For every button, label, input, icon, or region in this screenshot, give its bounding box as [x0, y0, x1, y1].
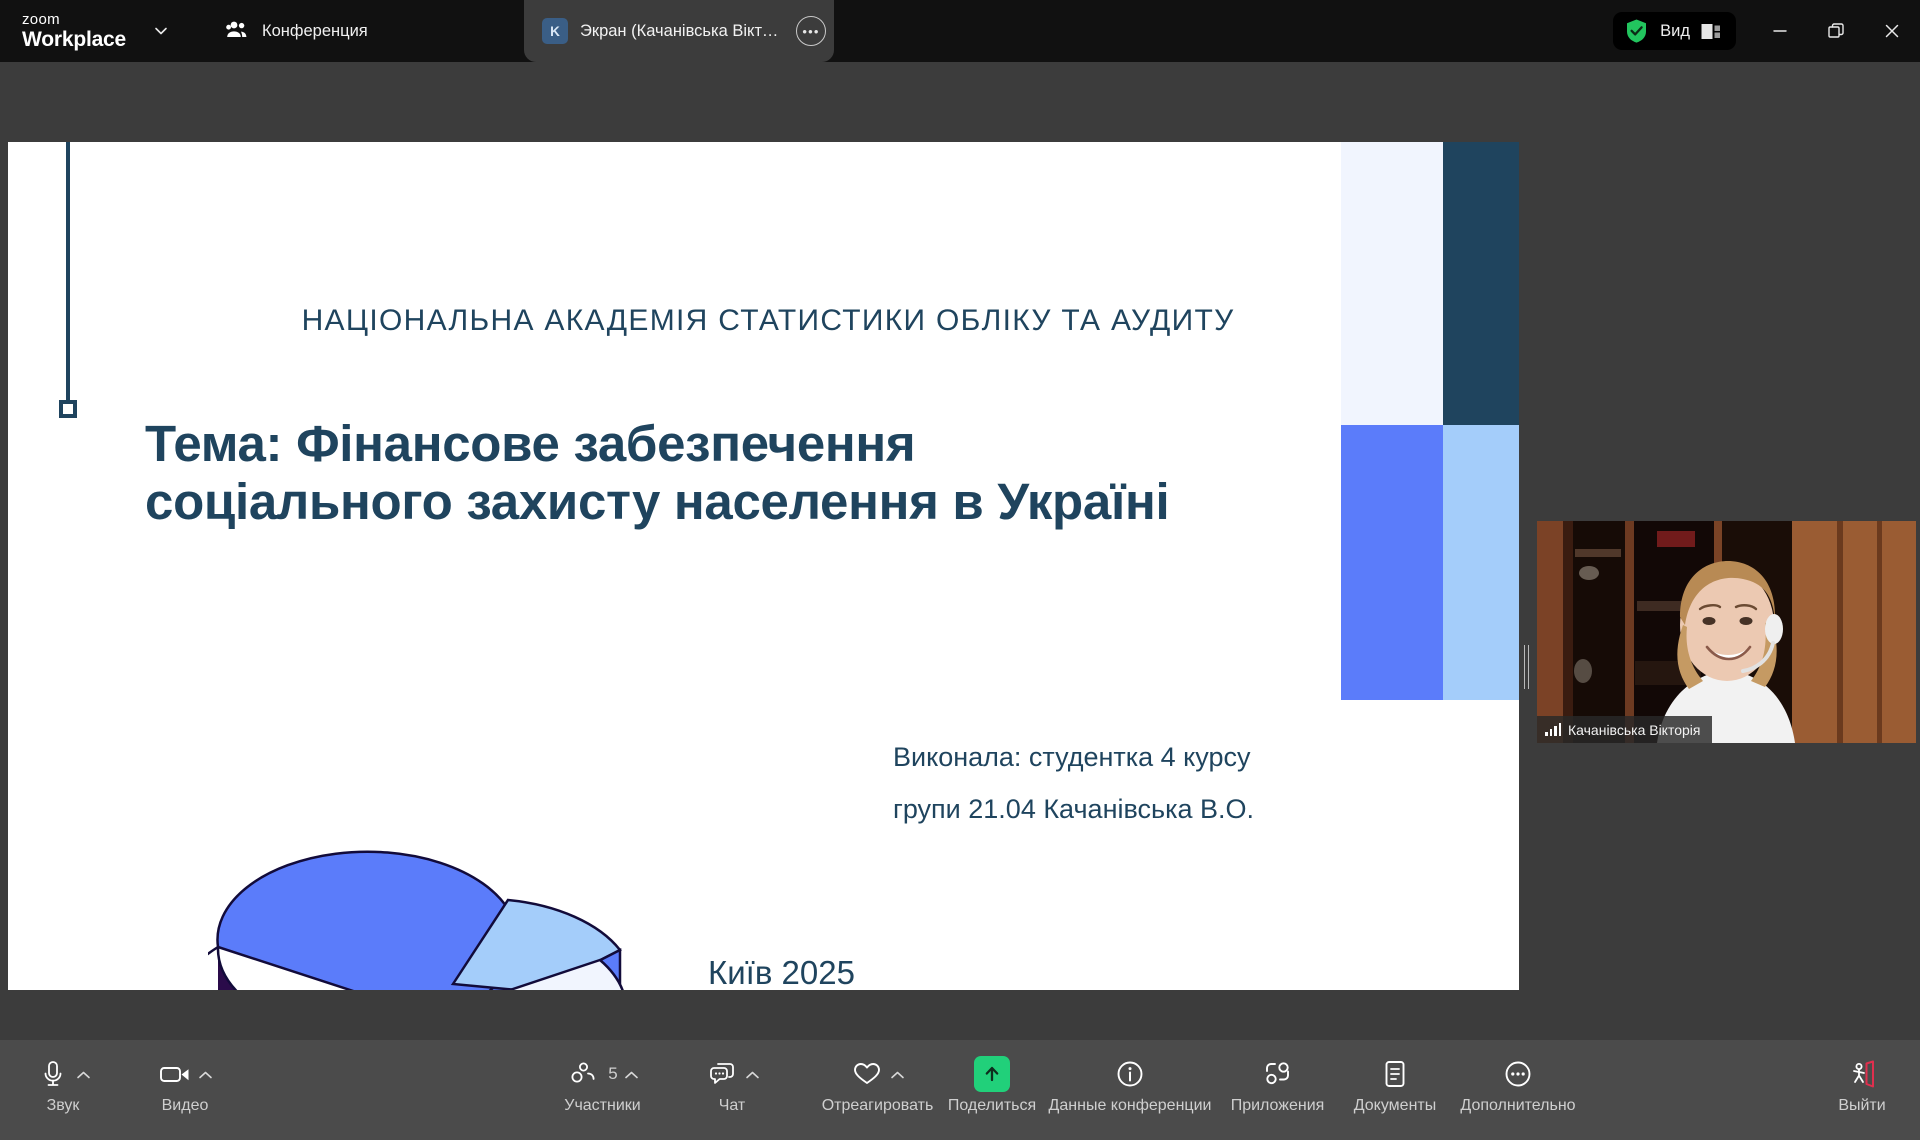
logo-zoom-text: zoom [22, 12, 60, 28]
participants-count-badge: 5 [608, 1064, 617, 1084]
toolbar-item-video[interactable]: Видео [145, 1052, 225, 1130]
toolbar-label-share: Поделиться [948, 1096, 1036, 1116]
people-group-icon [224, 18, 250, 44]
meeting-tab-label: Конференция [262, 22, 368, 41]
heart-icon [850, 1057, 884, 1091]
restore-window-icon[interactable] [1808, 0, 1864, 62]
audio-options-caret-icon[interactable] [76, 1068, 91, 1080]
zoom-app-window: zoom Workplace Конференция K Экран (Кача… [0, 0, 1920, 1140]
info-circle-icon [1113, 1057, 1147, 1091]
toolbar-label-reactions: Отреагировать [822, 1096, 934, 1116]
toolbar-label-participants: Участники [564, 1096, 640, 1116]
decor-vertical-line [66, 142, 70, 407]
chat-bubble-icon [705, 1057, 739, 1091]
video-camera-icon [158, 1057, 192, 1091]
decor-block-dark-navy [1443, 142, 1519, 425]
slide-author-line-1: Виконала: студентка 4 курсу [893, 731, 1343, 783]
zoom-workplace-logo: zoom Workplace [0, 12, 120, 51]
video-options-caret-icon[interactable] [198, 1068, 213, 1080]
shared-screen-slide[interactable]: НАЦІОНАЛЬНА АКАДЕМІЯ СТАТИСТИКИ ОБЛІКУ Т… [8, 142, 1519, 990]
participant-name-chip: Качанівська Вікторія [1537, 716, 1712, 743]
document-icon [1378, 1057, 1412, 1091]
ellipsis-circle-icon[interactable]: ••• [796, 16, 826, 46]
video-feed [1537, 521, 1916, 743]
slide-author-block: Виконала: студентка 4 курсу групи 21.04 … [893, 731, 1343, 835]
leave-meeting-icon [1845, 1057, 1879, 1091]
meeting-tab-button[interactable]: Конференция [214, 11, 378, 51]
minimize-icon[interactable] [1752, 0, 1808, 62]
meeting-stage: НАЦІОНАЛЬНА АКАДЕМІЯ СТАТИСТИКИ ОБЛІКУ Т… [0, 62, 1920, 1040]
3d-exploded-pie-chart [208, 832, 648, 990]
chevron-down-icon[interactable] [144, 14, 178, 48]
microphone-icon [36, 1057, 70, 1091]
tab-screen-share[interactable]: K Экран (Качанівська Вікторія) ••• [524, 0, 834, 62]
layout-panel-icon [1701, 23, 1721, 40]
reactions-options-caret-icon[interactable] [890, 1068, 905, 1080]
decor-block-royal-blue [1341, 425, 1443, 700]
decor-block-light-blue [1443, 425, 1519, 700]
meeting-toolbar: Звук Видео [0, 1040, 1920, 1140]
decor-block-light-lavender [1341, 142, 1443, 425]
title-bar: zoom Workplace Конференция K Экран (Кача… [0, 0, 1920, 62]
audio-bars-icon [1545, 723, 1561, 736]
logo-workplace-text: Workplace [22, 28, 126, 51]
toolbar-item-participants[interactable]: 5 Участники [540, 1052, 665, 1130]
toolbar-item-meeting-info[interactable]: Данные конференции [1030, 1052, 1230, 1130]
participant-video-tile[interactable]: Качанівська Вікторія [1537, 521, 1916, 743]
toolbar-label-video: Видео [162, 1096, 209, 1116]
share-screen-icon [974, 1056, 1010, 1092]
toolbar-item-chat[interactable]: Чат [692, 1052, 772, 1130]
toolbar-item-more[interactable]: Дополнительно [1418, 1052, 1618, 1130]
toolbar-label-more: Дополнительно [1460, 1096, 1575, 1116]
toolbar-item-leave[interactable]: Выйти [1826, 1052, 1898, 1130]
slide-university-name: НАЦІОНАЛЬНА АКАДЕМІЯ СТАТИСТИКИ ОБЛІКУ Т… [238, 304, 1298, 338]
participant-name: Качанівська Вікторія [1568, 722, 1701, 738]
toolbar-label-audio: Звук [47, 1096, 80, 1116]
toolbar-label-meeting-info: Данные конференции [1049, 1096, 1212, 1116]
participants-icon [566, 1057, 600, 1091]
green-shield-check-icon [1624, 18, 1649, 44]
toolbar-item-audio[interactable]: Звук [28, 1052, 98, 1130]
more-ellipsis-icon [1501, 1057, 1535, 1091]
participants-options-caret-icon[interactable] [624, 1068, 639, 1080]
apps-icon [1261, 1057, 1295, 1091]
toolbar-label-chat: Чат [719, 1096, 746, 1116]
slide-topic-title: Тема: Фінансове забезпечення соціального… [145, 415, 1195, 531]
tab-title: Экран (Качанівська Вікторія) [580, 22, 784, 41]
slide-author-line-2: групи 21.04 Качанівська В.О. [893, 783, 1343, 835]
close-x-icon[interactable] [1864, 0, 1920, 62]
decor-square-top [59, 400, 77, 418]
window-controls-group: Вид [1613, 0, 1920, 62]
view-button[interactable]: Вид [1613, 12, 1736, 50]
view-button-label: Вид [1660, 22, 1690, 41]
panel-drag-handle-icon[interactable] [1524, 645, 1529, 689]
chat-options-caret-icon[interactable] [745, 1068, 760, 1080]
toolbar-label-leave: Выйти [1838, 1096, 1885, 1116]
avatar: K [542, 18, 568, 44]
slide-city-year: Київ 2025 [708, 954, 855, 990]
